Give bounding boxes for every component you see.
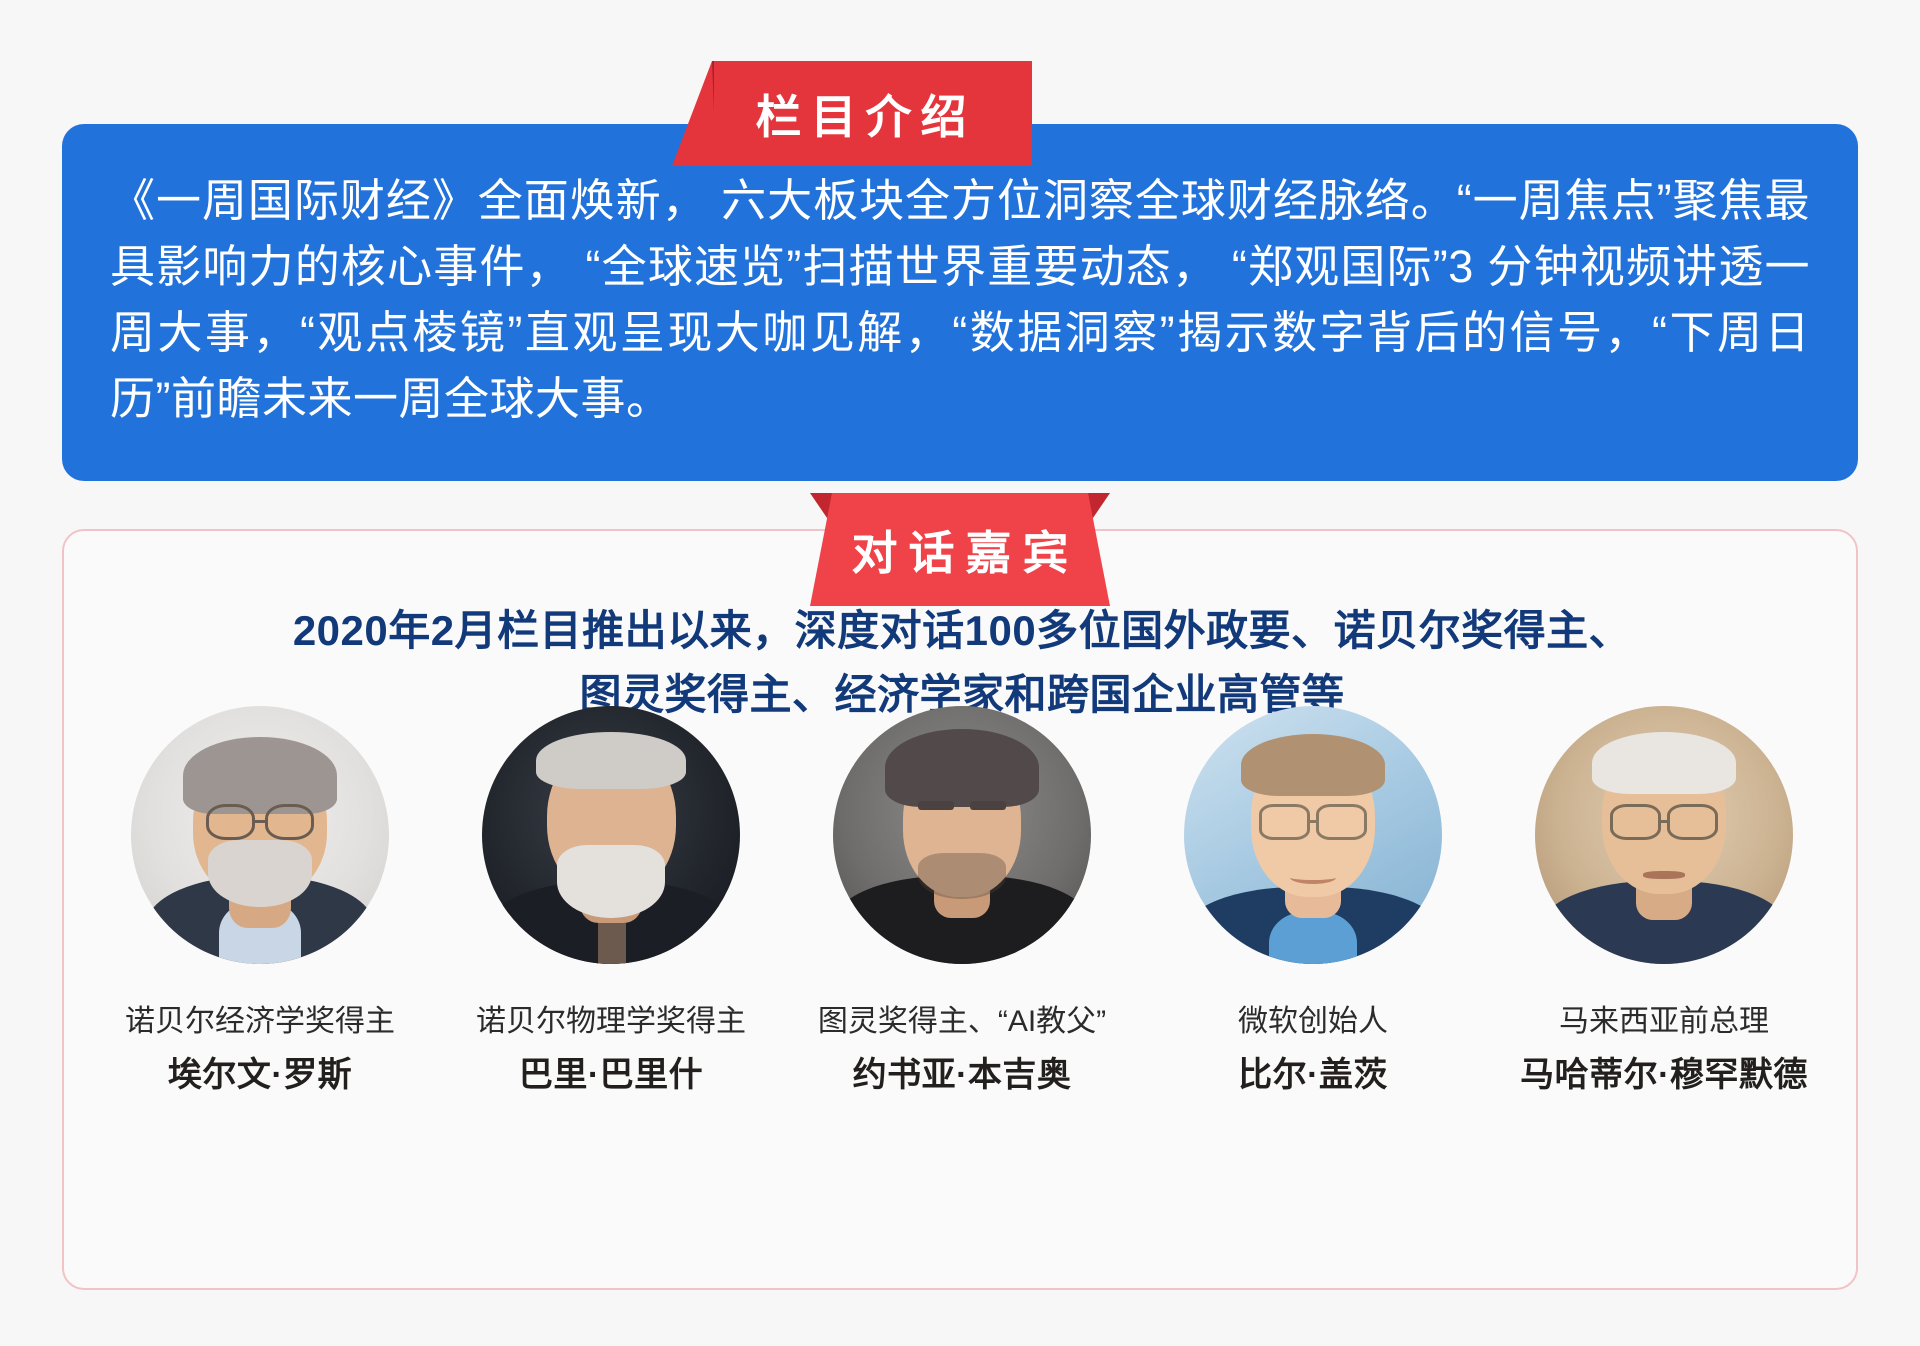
guest-title: 马来西亚前总理 [1559, 1002, 1769, 1042]
portrait-artwork [482, 706, 740, 964]
portrait-artwork [1184, 706, 1442, 964]
guest-name: 埃尔文·罗斯 [168, 1053, 352, 1097]
intro-ribbon-label: 栏目介绍 [672, 61, 1032, 166]
portrait-barry-barish [482, 706, 740, 964]
guest-title: 图灵奖得主、“AI教父” [818, 1002, 1106, 1042]
intro-body-text: 《一周国际财经》全面焕新， 六大板块全方位洞察全球财经脉络。“一周焦点”聚焦最具… [110, 168, 1810, 432]
intro-ribbon: 栏目介绍 [672, 61, 1032, 166]
page-root: 《一周国际财经》全面焕新， 六大板块全方位洞察全球财经脉络。“一周焦点”聚焦最具… [0, 0, 1920, 1346]
guest-card[interactable]: 微软创始人 比尔·盖茨 [1157, 706, 1469, 1097]
guest-title: 诺贝尔经济学奖得主 [125, 1002, 395, 1042]
guest-name: 比尔·盖茨 [1238, 1053, 1388, 1097]
portrait-artwork [1535, 706, 1793, 964]
guest-title: 微软创始人 [1238, 1002, 1388, 1042]
guest-card[interactable]: 诺贝尔物理学奖得主 巴里·巴里什 [455, 706, 767, 1097]
guest-card[interactable]: 诺贝尔经济学奖得主 埃尔文·罗斯 [104, 706, 416, 1097]
guests-heading-line-1: 2020年2月栏目推出以来，深度对话100多位国外政要、诺贝尔奖得主、 [174, 599, 1750, 663]
portrait-yoshua-bengio [833, 706, 1091, 964]
intro-section: 《一周国际财经》全面焕新， 六大板块全方位洞察全球财经脉络。“一周焦点”聚焦最具… [62, 61, 1858, 481]
intro-card: 《一周国际财经》全面焕新， 六大板块全方位洞察全球财经脉络。“一周焦点”聚焦最具… [62, 124, 1858, 481]
portrait-alvin-roth [131, 706, 389, 964]
guest-title: 诺贝尔物理学奖得主 [476, 1002, 746, 1042]
guests-card: 2020年2月栏目推出以来，深度对话100多位国外政要、诺贝尔奖得主、 图灵奖得… [62, 529, 1858, 1290]
guest-grid: 诺贝尔经济学奖得主 埃尔文·罗斯 诺贝尔物理学奖得主 巴里·巴里什 [104, 706, 1820, 1097]
portrait-artwork [833, 706, 1091, 964]
guest-name: 约书亚·本吉奥 [853, 1053, 1072, 1097]
guest-card[interactable]: 图灵奖得主、“AI教父” 约书亚·本吉奥 [806, 706, 1118, 1097]
portrait-mahathir-mohamad [1535, 706, 1793, 964]
portrait-artwork [131, 706, 389, 964]
guests-ribbon: 对话嘉宾 [810, 493, 1110, 606]
guest-card[interactable]: 马来西亚前总理 马哈蒂尔·穆罕默德 [1508, 706, 1820, 1097]
guests-ribbon-label: 对话嘉宾 [810, 493, 1110, 606]
portrait-bill-gates [1184, 706, 1442, 964]
guests-section: 2020年2月栏目推出以来，深度对话100多位国外政要、诺贝尔奖得主、 图灵奖得… [62, 493, 1858, 1293]
guest-name: 巴里·巴里什 [519, 1053, 703, 1097]
guest-name: 马哈蒂尔·穆罕默德 [1520, 1053, 1808, 1097]
